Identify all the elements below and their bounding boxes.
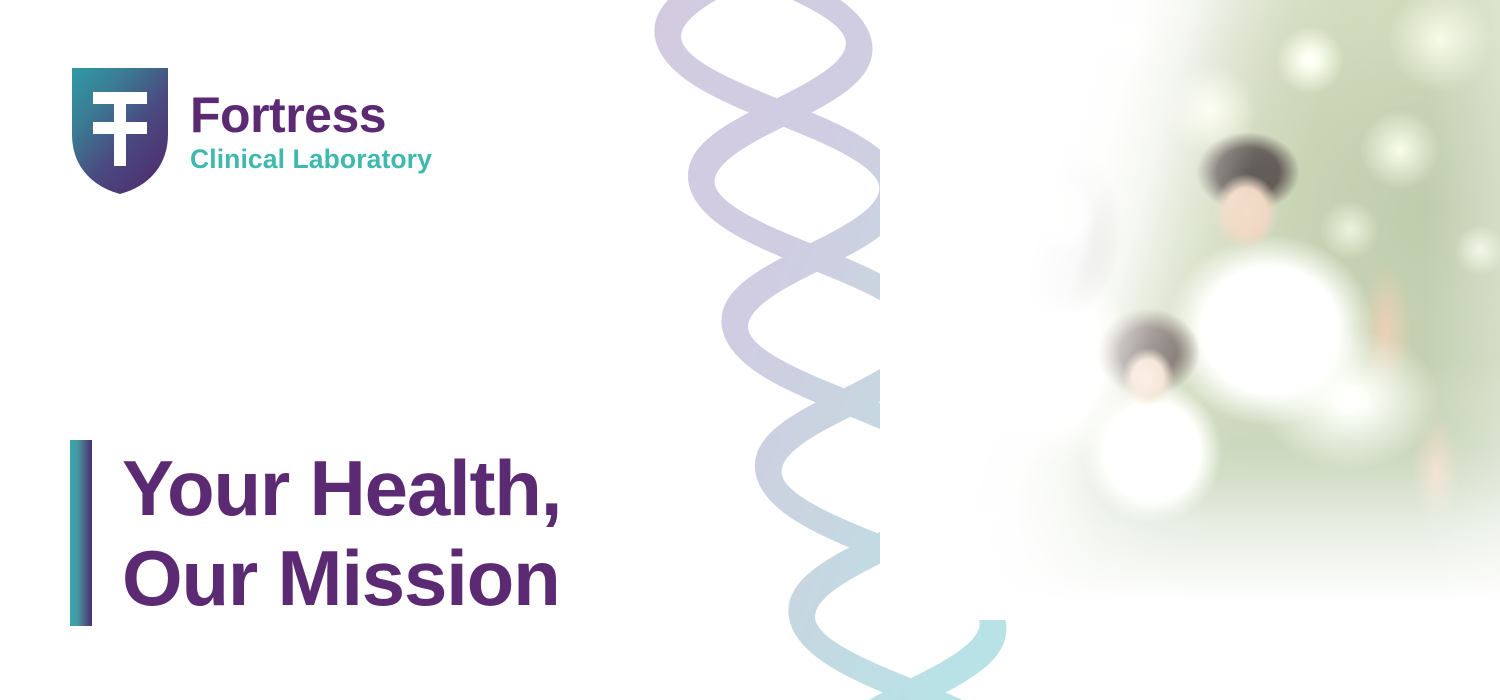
brand-name: Fortress — [190, 90, 432, 140]
brand-logo[interactable]: Fortress Clinical Laboratory — [72, 68, 432, 194]
family-photo — [880, 0, 1500, 620]
brand-wordmark: Fortress Clinical Laboratory — [190, 90, 432, 173]
vertical-accent-bar — [70, 440, 92, 626]
shield-cross-icon — [72, 68, 168, 194]
hero-banner: Fortress Clinical Laboratory Your Health… — [0, 0, 1500, 700]
hero-headline-block: Your Health, Our Mission — [70, 440, 561, 626]
page-title: Your Health, Our Mission — [122, 443, 561, 624]
brand-tagline: Clinical Laboratory — [190, 146, 432, 173]
photo-fade-right — [880, 0, 1500, 620]
